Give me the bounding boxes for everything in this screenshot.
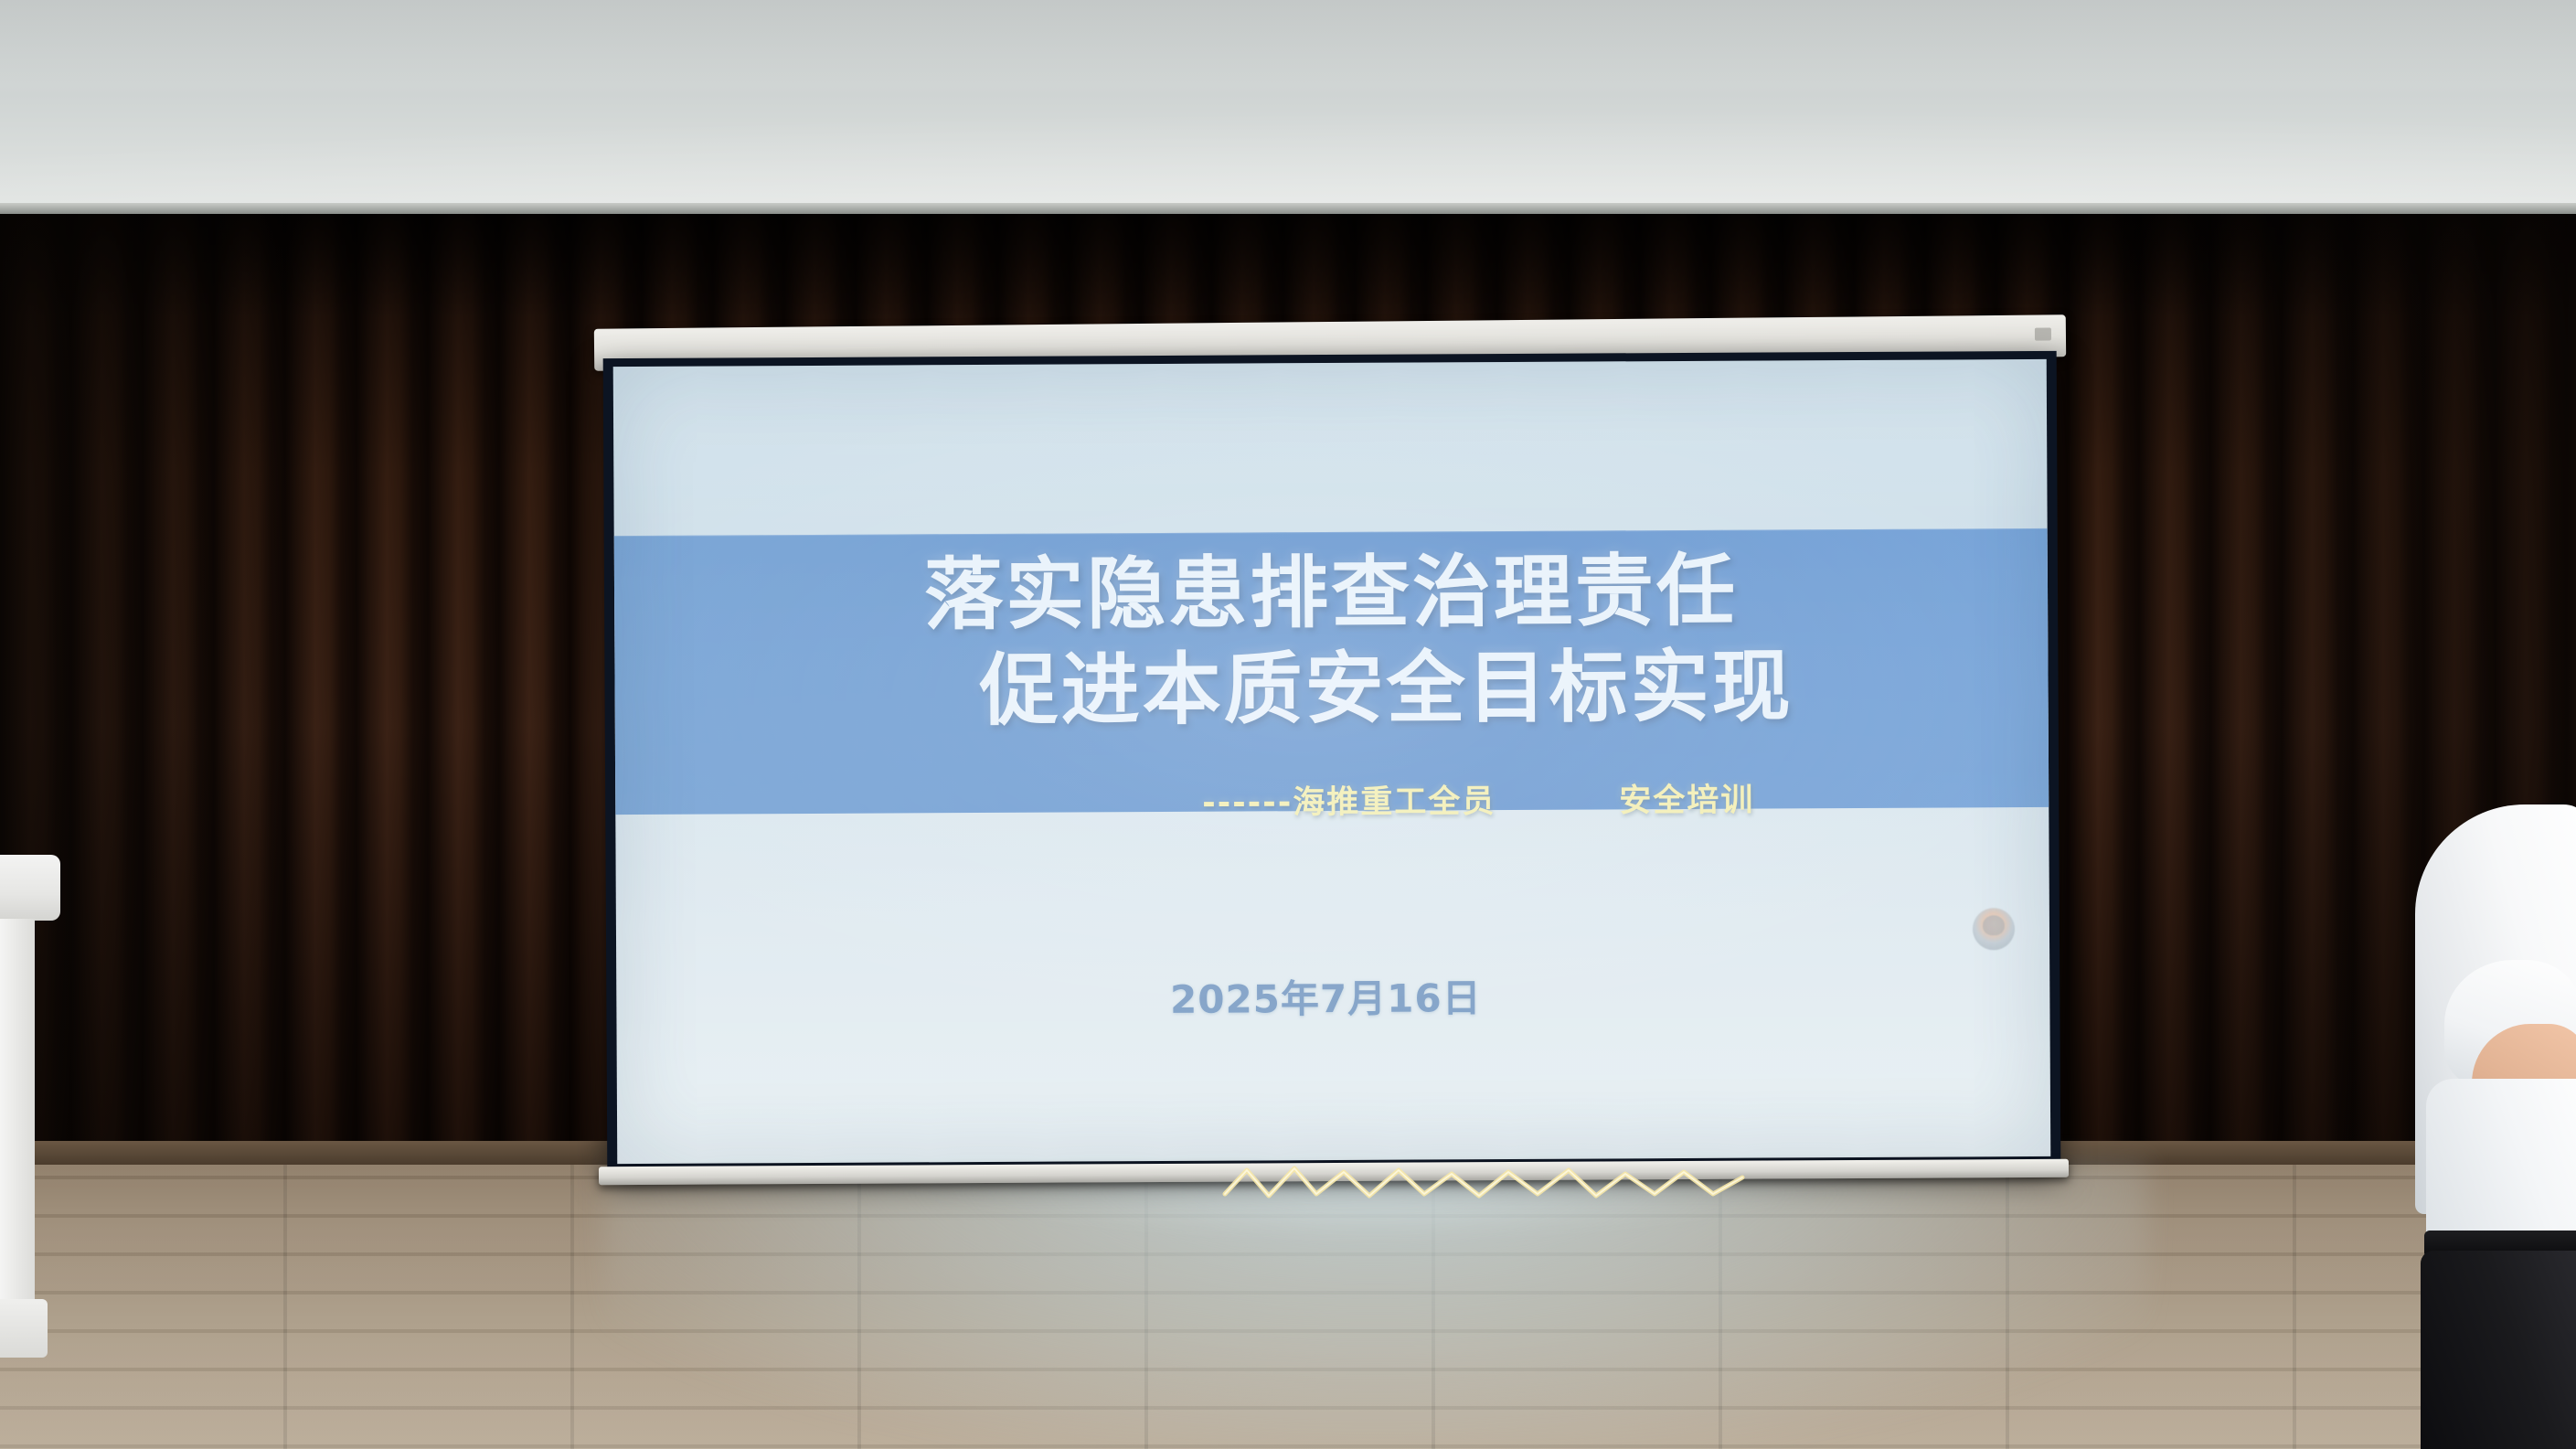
pull-down-projection-screen[interactable]: 落实隐患排查治理责任 促进本质安全目标实现 ------海推重工全员 安全培训 … [603,351,2061,1172]
suspended-tile-ceiling [0,0,2576,212]
lectern-base [0,1299,48,1358]
curtain-rail [0,203,2576,214]
slide-title-line-1: 落实隐患排查治理责任 [924,546,1739,642]
wood-laminate-floor [0,1141,2576,1449]
slide-title: 落实隐患排查治理责任 促进本质安全目标实现 [614,542,2049,741]
slide-date: 2025年7月16日 [616,964,2049,1028]
slide-subtitle: ------海推重工全员 安全培训 [615,772,2049,826]
projection-surface: 落实隐患排查治理责任 促进本质安全目标实现 ------海推重工全员 安全培训 … [613,359,2051,1164]
lectern-top [0,855,60,921]
white-lectern[interactable] [0,855,60,1367]
ceiling-light-shading [0,0,2576,212]
standing-attendee [2415,804,2576,1449]
attendee-trousers [2421,1251,2576,1449]
conference-room-scene: 落实隐患排查治理责任 促进本质安全目标实现 ------海推重工全员 安全培训 … [0,0,2576,1449]
presenter-avatar [1973,908,2015,950]
lectern-column [0,919,35,1303]
attendee-shirt-hem [2426,1079,2576,1252]
screen-housing-bracket-icon [2035,327,2051,340]
slide-subtitle-left: ------海推重工全员 [1202,775,1496,824]
slide-subtitle-right: 安全培训 [1619,774,1754,822]
slide-title-line-2: 促进本质安全目标实现 [614,638,2049,741]
